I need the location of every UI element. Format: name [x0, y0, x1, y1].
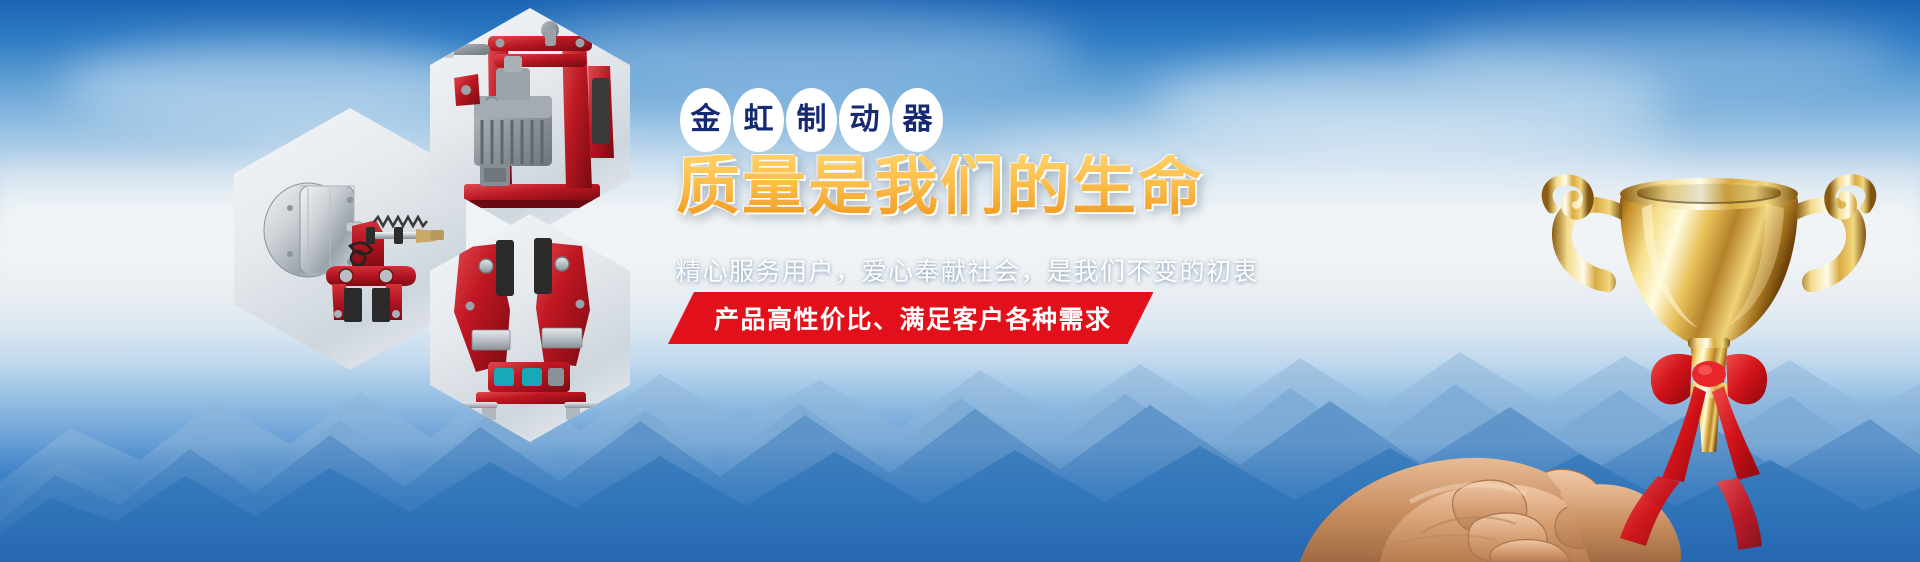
brand-char: 金: [680, 88, 731, 152]
hero-banner: 金 虹 制 动 器 质量是我们的生命 精心服务用户，爱心奉献社会，是我们不变的初…: [0, 0, 1920, 562]
brand-char: 器: [892, 88, 943, 152]
brand-char: 虹: [733, 88, 784, 152]
brand-char: 制: [786, 88, 837, 152]
banner-copy: 金 虹 制 动 器 质量是我们的生命 精心服务用户，爱心奉献社会，是我们不变的初…: [650, 0, 1290, 562]
ribbon-label: 产品高性价比、满足客户各种需求: [668, 300, 1154, 336]
brand-char: 动: [839, 88, 890, 152]
brand-logo: 金 虹 制 动 器: [680, 88, 943, 152]
subtitle-slogan: 精心服务用户，爱心奉献社会，是我们不变的初衷: [676, 252, 1259, 288]
headline-slogan: 质量是我们的生命: [676, 155, 1204, 219]
red-ribbon-banner: 产品高性价比、满足客户各种需求: [668, 292, 1154, 344]
product-hexagon-group: [222, 0, 642, 440]
